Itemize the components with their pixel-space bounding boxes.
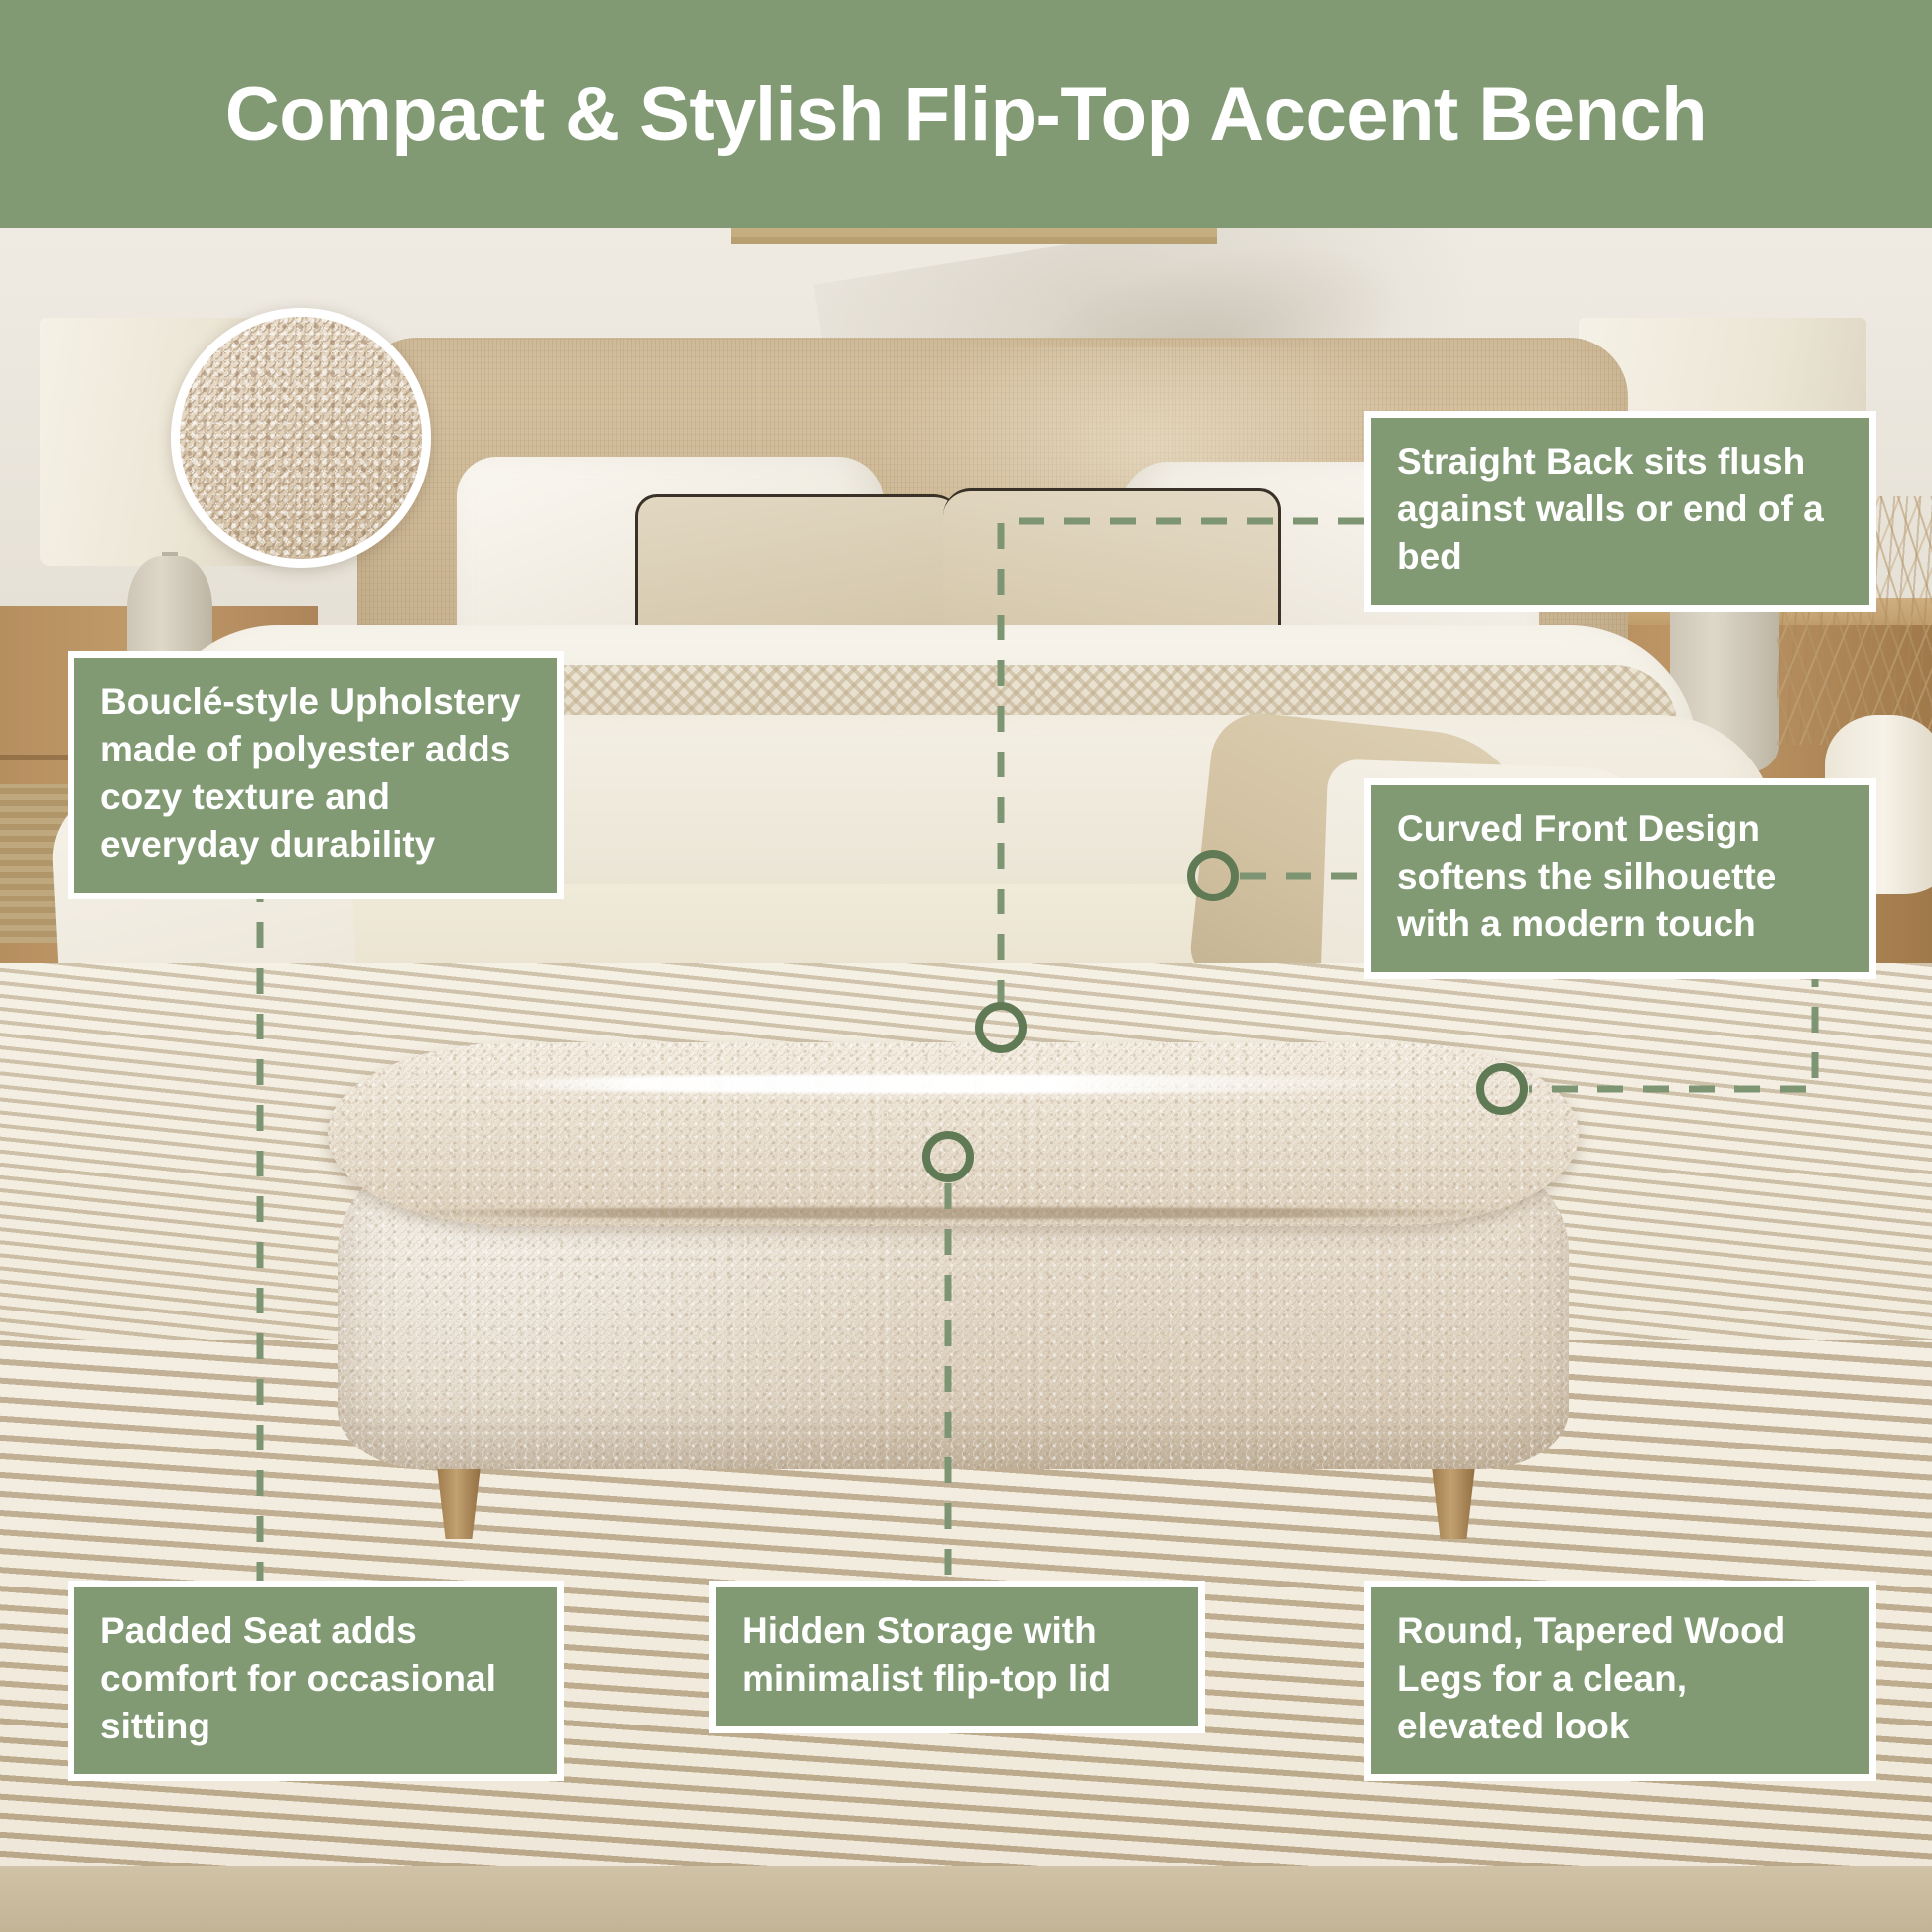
lid-seam-line: [367, 1207, 1539, 1219]
callout-wood-legs: Round, Tapered Wood Legs for a clean, el…: [1364, 1581, 1876, 1781]
callout-straight-back-lead: Straight Back: [1397, 441, 1634, 482]
callout-boucle-rest: made of polyester adds cozy texture and …: [100, 729, 510, 865]
header-banner: Compact & Stylish Flip-Top Accent Bench: [0, 0, 1932, 228]
infographic-canvas: Compact & Stylish Flip-Top Accent Bench …: [0, 0, 1932, 1932]
rug-front-edge: [0, 1866, 1932, 1932]
callout-storage-lead: Hidden Storage: [742, 1610, 1013, 1651]
callout-padded-seat: Padded Seat adds comfort for occasional …: [68, 1581, 564, 1781]
callout-curved-rest: softens the silhouette with a modern tou…: [1397, 856, 1776, 944]
callout-boucle-upholstery: Bouclé-style Upholstery made of polyeste…: [68, 651, 564, 899]
boucle-fabric-swatch-circle: [171, 308, 431, 568]
callout-curved-front: Curved Front Design softens the silhouet…: [1364, 778, 1876, 979]
bench-flip-top-lid: [328, 1042, 1579, 1226]
wall-art-frame: [731, 228, 1217, 244]
callout-padded-lead: Padded Seat: [100, 1610, 321, 1651]
callout-hidden-storage: Hidden Storage with minimalist flip-top …: [709, 1581, 1205, 1733]
lid-specular-highlight: [457, 1074, 1449, 1094]
flip-top-accent-bench: [328, 1013, 1579, 1499]
callout-curved-lead: Curved Front Design: [1397, 808, 1760, 849]
callout-straight-back: Straight Back sits flush against walls o…: [1364, 411, 1876, 612]
page-title: Compact & Stylish Flip-Top Accent Bench: [225, 71, 1707, 158]
callout-boucle-lead: Bouclé-style Upholstery: [100, 681, 521, 722]
